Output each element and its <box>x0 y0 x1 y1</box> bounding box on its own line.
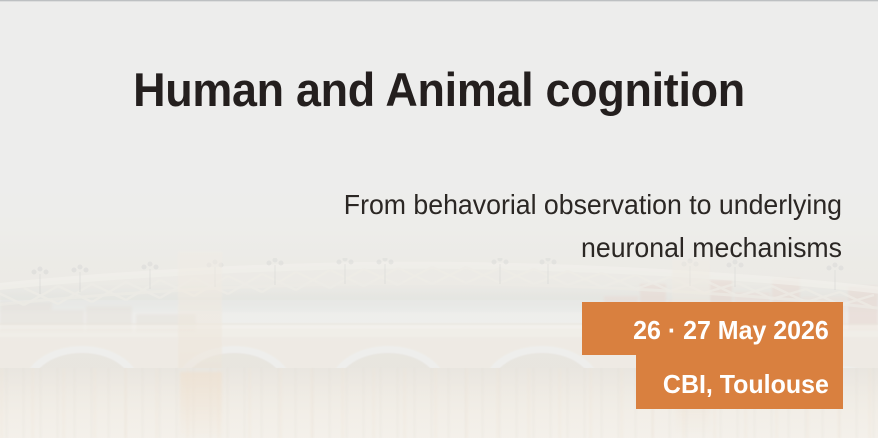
subtitle-line-2: neuronal mechanisms <box>221 226 842 269</box>
date-venue-badge: 26 · 27 May 2026 CBI, Toulouse <box>582 302 843 409</box>
top-edge-hairline <box>0 0 878 2</box>
pier-reflection-left <box>180 372 222 438</box>
badge-date-text: 26 · 27 May 2026 <box>633 317 829 343</box>
poster-title: Human and Animal cognition <box>20 62 858 118</box>
bridge-pier-left <box>178 252 222 372</box>
badge-venue-text: CBI, Toulouse <box>663 371 829 397</box>
conference-poster: Human and Animal cognition From behavori… <box>0 0 878 438</box>
subtitle-line-1: From behavorial observation to underlyin… <box>221 183 842 226</box>
poster-subtitle: From behavorial observation to underlyin… <box>221 183 842 269</box>
